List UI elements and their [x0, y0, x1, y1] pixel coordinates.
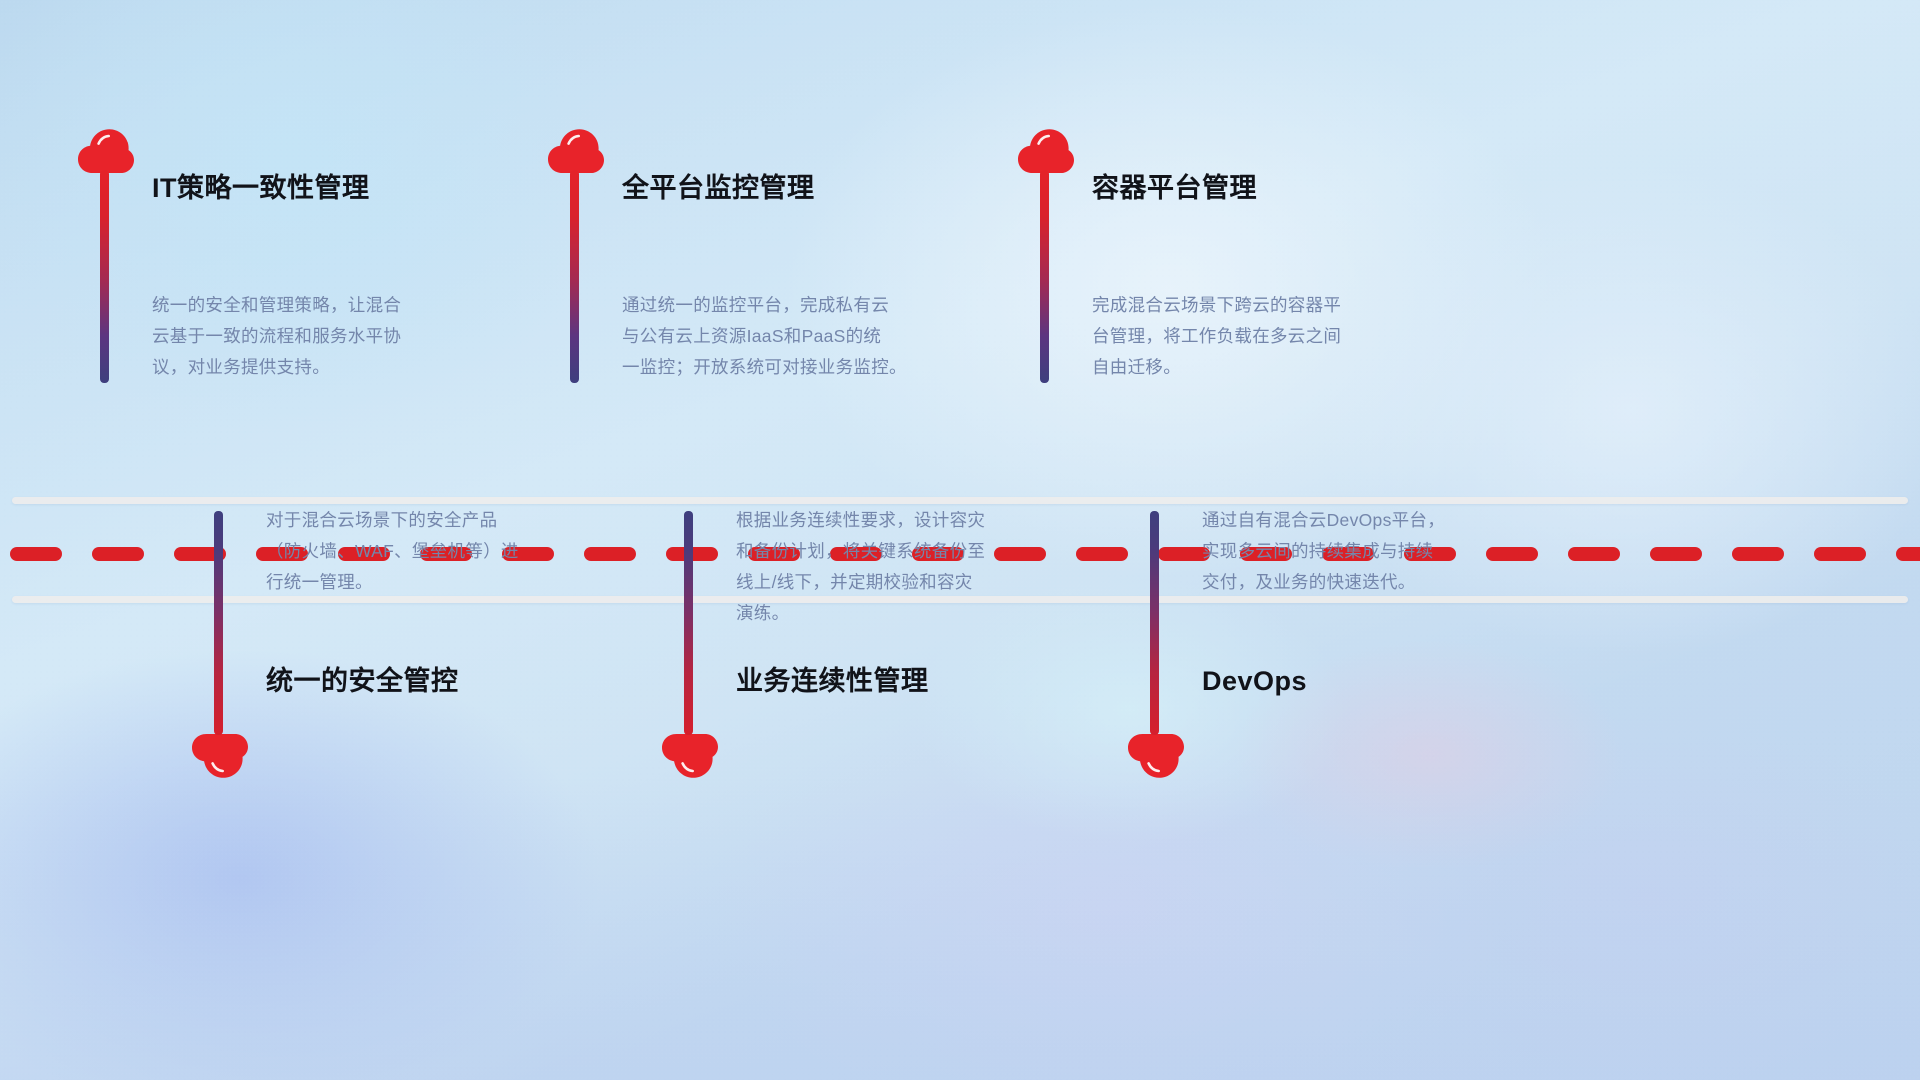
description-line: 实现多云间的持续集成与持续 — [1202, 536, 1562, 567]
description-line: 与公有云上资源IaaS和PaaS的统 — [622, 321, 982, 352]
description-line: 通过自有混合云DevOps平台， — [1202, 505, 1562, 536]
dash-segment — [92, 547, 144, 561]
item-description: 对于混合云场景下的安全产品（防火墙、WAF、堡垒机等）进行统一管理。 — [266, 505, 626, 598]
description-line: 台管理，将工作负载在多云之间 — [1092, 321, 1452, 352]
description-line: 和备份计划，将关键系统备份至 — [736, 536, 1096, 567]
cloud-icon — [1018, 128, 1074, 174]
dash-segment — [1732, 547, 1784, 561]
item-title: 全平台监控管理 — [622, 172, 815, 204]
item-description: 通过自有混合云DevOps平台，实现多云间的持续集成与持续交付，及业务的快速迭代… — [1202, 505, 1562, 598]
connector-stem — [214, 511, 223, 735]
dash-segment — [1896, 547, 1920, 561]
description-line: 交付，及业务的快速迭代。 — [1202, 567, 1562, 598]
description-line: 通过统一的监控平台，完成私有云 — [622, 290, 982, 321]
cloud-icon — [1128, 733, 1184, 779]
dash-segment — [1650, 547, 1702, 561]
cloud-icon — [192, 733, 248, 779]
description-line: 一监控；开放系统可对接业务监控。 — [622, 352, 982, 383]
divider-line-upper — [12, 497, 1908, 504]
infographic-canvas: IT策略一致性管理统一的安全和管理策略，让混合云基于一致的流程和服务水平协议，对… — [0, 0, 1920, 1080]
dash-segment — [10, 547, 62, 561]
description-line: 对于混合云场景下的安全产品 — [266, 505, 626, 536]
description-line: 议，对业务提供支持。 — [152, 352, 512, 383]
cloud-icon — [662, 733, 718, 779]
cloud-icon-wrapper — [548, 128, 604, 174]
connector-stem — [1150, 511, 1159, 735]
cloud-icon-wrapper — [192, 733, 248, 779]
description-line: 演练。 — [736, 598, 1096, 629]
description-line: 线上/线下，并定期校验和容灾 — [736, 567, 1096, 598]
connector-stem — [684, 511, 693, 735]
item-title: IT策略一致性管理 — [152, 172, 370, 204]
dash-segment — [1814, 547, 1866, 561]
description-line: 统一的安全和管理策略，让混合 — [152, 290, 512, 321]
cloud-icon-wrapper — [1018, 128, 1074, 174]
connector-stem — [1040, 170, 1049, 383]
item-description: 根据业务连续性要求，设计容灾和备份计划，将关键系统备份至线上/线下，并定期校验和… — [736, 505, 1096, 630]
item-title: DevOps — [1202, 665, 1307, 697]
item-description: 通过统一的监控平台，完成私有云与公有云上资源IaaS和PaaS的统一监控；开放系… — [622, 290, 982, 383]
cloud-icon-wrapper — [1128, 733, 1184, 779]
item-title: 业务连续性管理 — [736, 665, 929, 697]
cloud-icon — [78, 128, 134, 174]
description-line: 根据业务连续性要求，设计容灾 — [736, 505, 1096, 536]
description-line: （防火墙、WAF、堡垒机等）进 — [266, 536, 626, 567]
item-description: 统一的安全和管理策略，让混合云基于一致的流程和服务水平协议，对业务提供支持。 — [152, 290, 512, 383]
connector-stem — [570, 170, 579, 383]
item-title: 容器平台管理 — [1092, 172, 1257, 204]
cloud-icon-wrapper — [78, 128, 134, 174]
description-line: 自由迁移。 — [1092, 352, 1452, 383]
description-line: 完成混合云场景下跨云的容器平 — [1092, 290, 1452, 321]
cloud-icon-wrapper — [662, 733, 718, 779]
item-description: 完成混合云场景下跨云的容器平台管理，将工作负载在多云之间自由迁移。 — [1092, 290, 1452, 383]
description-line: 行统一管理。 — [266, 567, 626, 598]
connector-stem — [100, 170, 109, 383]
dash-segment — [1568, 547, 1620, 561]
item-title: 统一的安全管控 — [266, 665, 459, 697]
description-line: 云基于一致的流程和服务水平协 — [152, 321, 512, 352]
cloud-icon — [548, 128, 604, 174]
